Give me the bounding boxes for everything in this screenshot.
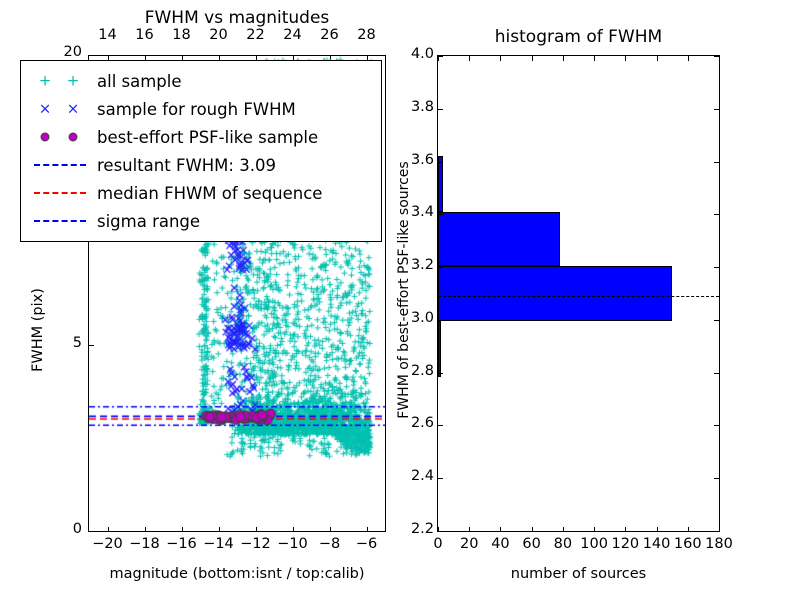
axis-tick xyxy=(330,527,331,532)
axis-tick xyxy=(594,527,595,532)
scatter-xlabel: magnitude (bottom:isnt / top:calib) xyxy=(88,566,386,582)
axis-tick xyxy=(532,527,533,532)
dashed-line-icon xyxy=(29,153,91,177)
line-glyph xyxy=(34,220,86,222)
histogram-bar xyxy=(438,266,672,321)
legend-label: sample for rough FWHM xyxy=(91,100,296,119)
legend-item-3[interactable]: resultant FWHM: 3.09 xyxy=(29,151,371,179)
legend-box: ++all sample××sample for rough FWHMbest-… xyxy=(20,60,382,242)
axis-tick xyxy=(688,527,689,532)
axis-tick xyxy=(625,56,626,61)
scatter-x-tick-label-7: −6 xyxy=(347,536,387,552)
dashed-line-icon xyxy=(29,181,91,205)
dashdot-line-icon xyxy=(29,209,91,233)
scatter-top-tick-label-1: 16 xyxy=(125,27,165,43)
axis-tick xyxy=(563,527,564,532)
axis-tick xyxy=(438,214,443,215)
histogram-y-tick-label-0: 2.2 xyxy=(390,521,434,537)
line-glyph xyxy=(34,192,86,194)
axis-tick xyxy=(438,373,443,374)
legend-label: best-effort PSF-like sample xyxy=(91,128,318,147)
histogram-plot-area xyxy=(438,56,719,531)
histogram-bar xyxy=(438,321,441,376)
axis-tick xyxy=(714,478,719,479)
axis-tick xyxy=(438,162,443,163)
scatter-ylabel: FWHM (pix) xyxy=(30,240,46,420)
axis-tick xyxy=(438,425,443,426)
axis-tick xyxy=(182,527,183,532)
cross-marker-icon: ×× xyxy=(29,97,91,121)
scatter-y-tick-label-1: 5 xyxy=(40,335,82,351)
scatter-top-tick-label-7: 28 xyxy=(347,27,387,43)
axis-tick xyxy=(714,373,719,374)
axis-tick xyxy=(719,527,720,532)
cross-glyph: × xyxy=(39,102,52,117)
axis-tick xyxy=(625,527,626,532)
histogram-xlabel: number of sources xyxy=(437,566,720,582)
histogram-x-tick-label-9: 180 xyxy=(699,536,739,552)
histogram-title: histogram of FWHM xyxy=(437,27,720,47)
axis-tick xyxy=(469,527,470,532)
axis-tick xyxy=(594,56,595,61)
scatter-x-tick-label-4: −12 xyxy=(236,536,276,552)
legend-item-4[interactable]: median FHWM of sequence xyxy=(29,179,371,207)
axis-tick xyxy=(469,56,470,61)
scatter-x-tick-label-1: −18 xyxy=(125,536,165,552)
axis-tick xyxy=(500,56,501,61)
histogram-bar xyxy=(438,156,443,211)
scatter-y-top-label: 20 xyxy=(40,44,82,60)
circle-glyph xyxy=(41,133,50,142)
legend-label: median FHWM of sequence xyxy=(91,184,322,203)
line-glyph xyxy=(34,164,86,166)
scatter-x-tick-label-0: −20 xyxy=(88,536,128,552)
axis-tick xyxy=(438,56,439,61)
scatter-x-tick-label-3: −14 xyxy=(199,536,239,552)
histogram-resultant-fwhm-line xyxy=(438,296,719,297)
axis-tick xyxy=(438,320,443,321)
histogram-ylabel: FWHM of best-effort PSF-like sources xyxy=(396,60,412,520)
axis-tick xyxy=(89,345,94,346)
plus-glyph: + xyxy=(39,74,52,89)
axis-tick xyxy=(438,267,443,268)
scatter-y-tick-label-0: 0 xyxy=(40,521,82,537)
axis-tick xyxy=(714,109,719,110)
scatter-x-tick-label-2: −16 xyxy=(162,536,202,552)
histogram-bar xyxy=(438,212,560,266)
legend-item-5[interactable]: sigma range xyxy=(29,207,371,235)
legend-label: all sample xyxy=(91,72,182,91)
legend-label: sigma range xyxy=(91,212,200,231)
axis-tick xyxy=(657,527,658,532)
axis-tick xyxy=(719,56,720,61)
plus-marker-icon: ++ xyxy=(29,69,91,93)
cross-glyph: × xyxy=(67,102,80,117)
axis-tick xyxy=(714,214,719,215)
axis-tick xyxy=(714,320,719,321)
axis-tick xyxy=(438,527,439,532)
scatter-top-tick-label-2: 18 xyxy=(162,27,202,43)
axis-tick xyxy=(438,478,443,479)
scatter-x-tick-label-5: −10 xyxy=(273,536,313,552)
axis-tick xyxy=(714,425,719,426)
figure-canvas: FWHM vs magnitudes 1416182022242628 20 0… xyxy=(0,0,800,600)
scatter-top-tick-label-4: 22 xyxy=(236,27,276,43)
axis-tick xyxy=(563,56,564,61)
legend-item-2[interactable]: best-effort PSF-like sample xyxy=(29,123,371,151)
circle-marker-icon xyxy=(29,125,91,149)
axis-tick xyxy=(367,527,368,532)
axis-tick xyxy=(657,56,658,61)
circle-glyph xyxy=(69,133,78,142)
axis-tick xyxy=(532,56,533,61)
legend-item-1[interactable]: ××sample for rough FWHM xyxy=(29,95,371,123)
axis-tick xyxy=(714,267,719,268)
axis-tick xyxy=(145,527,146,532)
axis-tick xyxy=(500,527,501,532)
legend-item-0[interactable]: ++all sample xyxy=(29,67,371,95)
scatter-x-tick-label-6: −8 xyxy=(310,536,350,552)
axis-tick xyxy=(219,527,220,532)
legend-label: resultant FWHM: 3.09 xyxy=(91,156,276,175)
axis-tick xyxy=(714,162,719,163)
axis-tick xyxy=(438,109,443,110)
axis-tick xyxy=(293,527,294,532)
scatter-title: FWHM vs magnitudes xyxy=(88,8,386,28)
scatter-top-tick-label-3: 20 xyxy=(199,27,239,43)
axis-tick xyxy=(256,527,257,532)
axis-tick xyxy=(108,527,109,532)
scatter-top-tick-label-5: 24 xyxy=(273,27,313,43)
scatter-top-tick-label-6: 26 xyxy=(310,27,350,43)
axis-tick xyxy=(89,531,94,532)
axis-tick xyxy=(688,56,689,61)
plus-glyph: + xyxy=(67,74,80,89)
scatter-top-tick-label-0: 14 xyxy=(88,27,128,43)
